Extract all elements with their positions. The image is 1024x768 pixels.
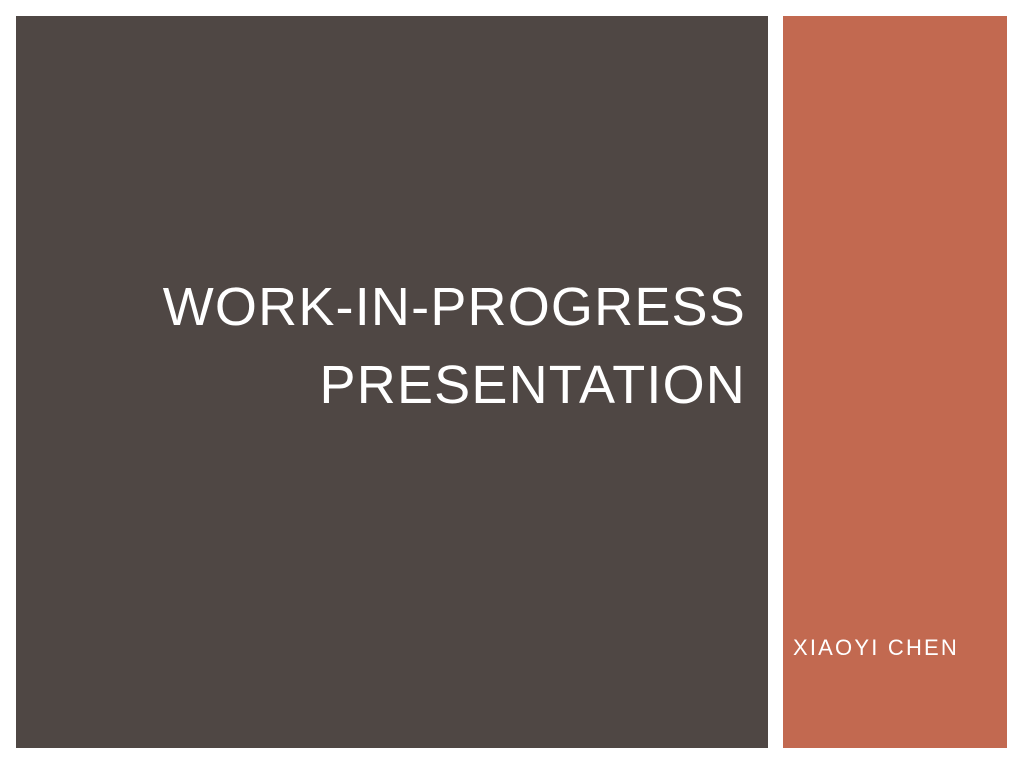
slide-title: WORK-IN-PROGRESS PRESENTATION (86, 268, 746, 424)
title-panel: WORK-IN-PROGRESS PRESENTATION (16, 16, 768, 748)
slide-canvas: WORK-IN-PROGRESS PRESENTATION XIAOYI CHE… (0, 0, 1024, 768)
slide-subtitle-author: XIAOYI CHEN (793, 633, 1007, 663)
subtitle-panel: XIAOYI CHEN (783, 16, 1007, 748)
